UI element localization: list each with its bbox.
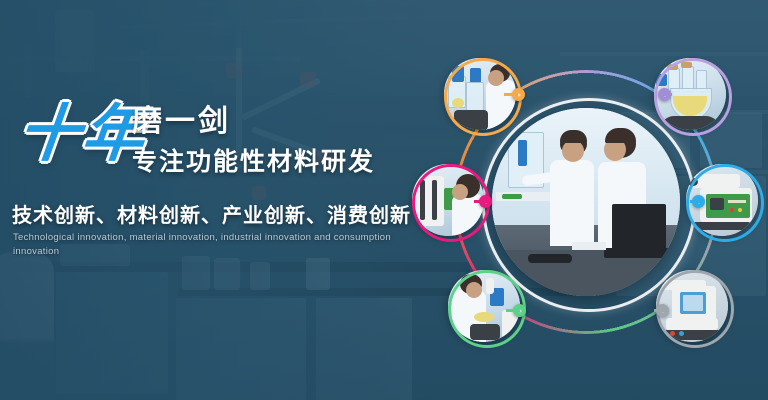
slogan-chinese: 技术创新、材料创新、产业创新、消费创新 — [12, 203, 411, 229]
headline-sub: 专注功能性材料研发 — [132, 147, 375, 177]
bench-unit — [470, 324, 500, 340]
satellite-photo-sampling[interactable] — [448, 270, 520, 342]
spoke-green — [506, 309, 520, 312]
instrument-led — [738, 208, 742, 212]
headline-big: 十年 — [14, 99, 149, 169]
slogan-english: Technological innovation, material innov… — [13, 231, 430, 259]
stand — [486, 278, 494, 294]
copy-block: 十年 磨一剑 专注功能性材料研发 技术创新、材料创新、产业创新、消费创新 Tec… — [0, 0, 430, 400]
operator-face — [452, 184, 468, 200]
test-frame — [414, 176, 444, 226]
instrument-led — [730, 208, 734, 212]
test-column — [432, 180, 437, 220]
instrument-top-arm — [692, 174, 740, 188]
heating-mantle — [454, 110, 488, 130]
test-column — [420, 180, 425, 220]
blue-valve — [470, 68, 481, 83]
blue-valve — [452, 66, 464, 82]
worker-face — [488, 70, 504, 86]
technician-face — [466, 282, 482, 298]
instrument-base — [694, 222, 750, 230]
flask — [466, 82, 484, 112]
cork — [681, 62, 692, 68]
blue-clamp — [656, 74, 667, 86]
analyzer-keyboard — [666, 318, 718, 330]
banner-root: 十年 磨一剑 专注功能性材料研发 技术创新、材料创新、产业创新、消费创新 Tec… — [0, 0, 768, 400]
spoke-orange — [504, 93, 518, 96]
instrument-display — [710, 198, 724, 210]
headline-mid: 磨一剑 — [132, 105, 231, 139]
sample-material — [474, 312, 494, 322]
analyzer-led — [670, 331, 675, 336]
worker-coat — [486, 80, 516, 130]
instrument-readout — [728, 200, 746, 203]
circle-cluster — [404, 24, 764, 380]
sampling-scene — [448, 270, 520, 342]
headline-row: 十年 磨一剑 专注功能性材料研发 — [14, 103, 414, 195]
screen-glare — [683, 295, 703, 311]
spoke-blue — [690, 200, 704, 203]
spoke-purple — [658, 93, 672, 96]
cork — [667, 64, 678, 70]
spoke-pink — [474, 200, 488, 203]
analyzer-led — [679, 331, 684, 336]
spoke-gray — [654, 309, 668, 312]
roller — [688, 178, 698, 186]
yellow-liquid — [452, 98, 464, 108]
heating-bath — [660, 116, 720, 130]
